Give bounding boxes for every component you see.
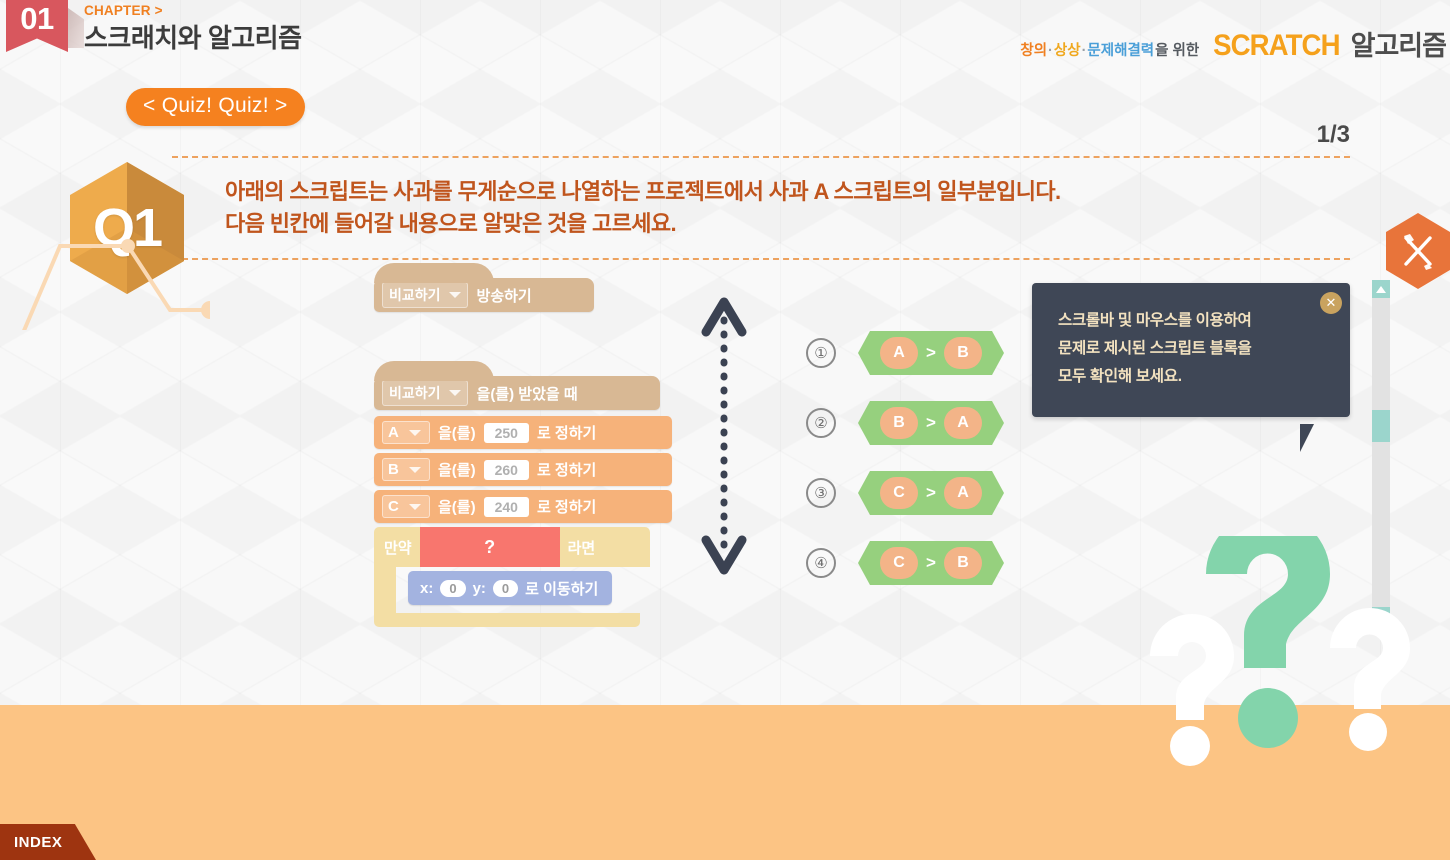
variable-dropdown[interactable]: C bbox=[382, 495, 430, 518]
caret-up-icon bbox=[1376, 286, 1386, 293]
scratch-script: 비교하기 방송하기 비교하기 을(를) 받았을 때 A 을(를) 250 로 정… bbox=[374, 278, 672, 631]
question-text: 아래의 스크립트는 사과를 무게순으로 나열하는 프로젝트에서 사과 A 스크립… bbox=[225, 176, 1061, 240]
close-icon[interactable]: ✕ bbox=[1320, 292, 1342, 314]
page-indicator: 1/3 bbox=[1317, 121, 1350, 149]
receive-block-label: 을(를) 받았을 때 bbox=[477, 383, 578, 404]
move-block-suffix: 로 이동하기 bbox=[525, 578, 598, 599]
variable-value-input[interactable]: 240 bbox=[484, 497, 529, 517]
scroll-up-button[interactable] bbox=[1372, 280, 1390, 298]
chevron-down-icon bbox=[409, 504, 421, 510]
operator: > bbox=[926, 483, 936, 503]
if-block-arm bbox=[374, 567, 396, 613]
set-block-prefix: 을(를) bbox=[438, 459, 476, 480]
caret-down-icon bbox=[1376, 613, 1386, 620]
set-variable-block[interactable]: A 을(를) 250 로 정하기 bbox=[374, 416, 672, 449]
brand-logo: 창의 · 상상 · 문제해결력 을 위한 SCRATCH 알고리즘 bbox=[1020, 24, 1446, 63]
quiz-page: 01 CHAPTER > 스크래치와 알고리즘 창의 · 상상 · 문제해결력 … bbox=[0, 0, 1450, 860]
variable-dropdown[interactable]: B bbox=[382, 458, 430, 481]
set-block-suffix: 로 정하기 bbox=[537, 422, 596, 443]
receive-dropdown[interactable]: 비교하기 bbox=[382, 380, 468, 406]
set-variable-block[interactable]: C 을(를) 240 로 정하기 bbox=[374, 490, 672, 523]
operand-right: A bbox=[944, 407, 982, 439]
set-block-suffix: 로 정하기 bbox=[537, 459, 596, 480]
chevron-down-icon bbox=[449, 292, 461, 298]
option-row[interactable]: ② B > A bbox=[806, 388, 1004, 458]
vertical-scrollbar[interactable] bbox=[1372, 280, 1390, 625]
set-block-prefix: 을(를) bbox=[438, 496, 476, 517]
receive-dropdown-value: 비교하기 bbox=[389, 383, 441, 403]
brand-part-1: 창의 bbox=[1020, 39, 1047, 60]
move-y-label: y: bbox=[473, 580, 486, 597]
brand-algorithm: 알고리즘 bbox=[1346, 24, 1446, 63]
operator: > bbox=[926, 343, 936, 363]
operator: > bbox=[926, 413, 936, 433]
quiz-navigation-pill[interactable]: < Quiz! Quiz! > bbox=[126, 88, 305, 126]
set-variable-block[interactable]: B 을(를) 260 로 정하기 bbox=[374, 453, 672, 486]
option-number: ④ bbox=[806, 548, 836, 578]
operand-right: B bbox=[944, 337, 982, 369]
variable-name: C bbox=[388, 498, 399, 515]
chevron-down-icon bbox=[449, 390, 461, 396]
if-block-wrapper: 만약 ? 라면 x: 0 y: 0 로 이동하기 bbox=[374, 527, 672, 631]
if-block[interactable]: 만약 ? 라면 bbox=[374, 527, 650, 567]
option-row[interactable]: ① A > B bbox=[806, 318, 1004, 388]
answer-options: ① A > B ② B > A ③ C > A ④ bbox=[806, 318, 1004, 598]
operand-right: A bbox=[944, 477, 982, 509]
tooltip-line-1: 스크롤바 및 마우스를 이용하여 bbox=[1058, 307, 1324, 335]
brand-scratch: SCRATCH bbox=[1205, 29, 1340, 63]
brand-part-4: 을 위한 bbox=[1154, 39, 1199, 60]
option-number: ① bbox=[806, 338, 836, 368]
option-boolean-block[interactable]: A > B bbox=[858, 331, 1004, 375]
broadcast-block[interactable]: 비교하기 방송하기 bbox=[374, 278, 594, 312]
operand-left: A bbox=[880, 337, 918, 369]
tooltip-line-2: 문제로 제시된 스크립트 블록을 bbox=[1058, 335, 1324, 363]
option-number: ② bbox=[806, 408, 836, 438]
divider-top bbox=[172, 156, 1350, 158]
variable-value-input[interactable]: 260 bbox=[484, 460, 529, 480]
variable-value-input[interactable]: 250 bbox=[484, 423, 529, 443]
question-line-2: 다음 빈칸에 들어갈 내용으로 알맞은 것을 고르세요. bbox=[225, 208, 1061, 240]
broadcast-block-label: 방송하기 bbox=[477, 285, 532, 306]
option-boolean-block[interactable]: C > A bbox=[858, 471, 1004, 515]
if-condition-slot[interactable]: ? bbox=[420, 527, 560, 567]
move-y-input[interactable]: 0 bbox=[493, 580, 518, 597]
page-title: 스크래치와 알고리즘 bbox=[84, 18, 302, 55]
tooltip-tail bbox=[1300, 424, 1314, 452]
scroll-down-button[interactable] bbox=[1372, 607, 1390, 625]
if-block-prefix: 만약 bbox=[384, 537, 412, 558]
brand-part-3: 문제해결력 bbox=[1087, 39, 1154, 60]
pencil-ruler-icon[interactable] bbox=[1384, 212, 1450, 290]
footer-band bbox=[0, 705, 1450, 860]
set-block-suffix: 로 정하기 bbox=[537, 496, 596, 517]
operand-left: C bbox=[880, 477, 918, 509]
operand-left: B bbox=[880, 407, 918, 439]
question-line-1: 아래의 스크립트는 사과를 무게순으로 나열하는 프로젝트에서 사과 A 스크립… bbox=[225, 176, 1061, 208]
ribbon-shadow bbox=[68, 8, 84, 48]
move-x-input[interactable]: 0 bbox=[440, 580, 465, 597]
brand-sep-2: · bbox=[1081, 43, 1088, 59]
brand-part-2: 상상 bbox=[1054, 39, 1081, 60]
brand-sep-1: · bbox=[1047, 43, 1054, 59]
option-row[interactable]: ④ C > B bbox=[806, 528, 1004, 598]
receive-block[interactable]: 비교하기 을(를) 받았을 때 bbox=[374, 376, 660, 410]
operator: > bbox=[926, 553, 936, 573]
operand-right: B bbox=[944, 547, 982, 579]
variable-name: B bbox=[388, 461, 399, 478]
chapter-label: CHAPTER > bbox=[84, 3, 163, 18]
move-to-block[interactable]: x: 0 y: 0 로 이동하기 bbox=[408, 571, 612, 605]
question-badge: Q1 bbox=[68, 160, 186, 296]
move-x-label: x: bbox=[420, 580, 433, 597]
broadcast-dropdown-value: 비교하기 bbox=[389, 285, 441, 305]
if-block-foot bbox=[374, 613, 640, 627]
set-block-prefix: 을(를) bbox=[438, 422, 476, 443]
chapter-number: 01 bbox=[20, 0, 53, 34]
hat-block-cap bbox=[374, 361, 494, 381]
divider-bottom bbox=[172, 258, 1350, 260]
chevron-down-icon bbox=[409, 430, 421, 436]
broadcast-dropdown[interactable]: 비교하기 bbox=[382, 282, 468, 308]
variable-name: A bbox=[388, 424, 399, 441]
scrollbar-thumb[interactable] bbox=[1372, 410, 1390, 442]
chapter-number-ribbon: 01 bbox=[6, 0, 68, 52]
question-badge-label: Q1 bbox=[68, 160, 186, 296]
scroll-hint-arrows bbox=[700, 288, 748, 584]
chevron-down-icon bbox=[409, 467, 421, 473]
index-label: INDEX bbox=[14, 834, 62, 851]
hat-block-cap bbox=[374, 263, 494, 283]
hint-tooltip: ✕ 스크롤바 및 마우스를 이용하여 문제로 제시된 스크립트 블록을 모두 확… bbox=[1032, 283, 1350, 417]
operand-left: C bbox=[880, 547, 918, 579]
option-number: ③ bbox=[806, 478, 836, 508]
option-boolean-block[interactable]: C > B bbox=[858, 541, 1004, 585]
option-boolean-block[interactable]: B > A bbox=[858, 401, 1004, 445]
option-row[interactable]: ③ C > A bbox=[806, 458, 1004, 528]
tooltip-line-3: 모두 확인해 보세요. bbox=[1058, 363, 1324, 391]
variable-dropdown[interactable]: A bbox=[382, 421, 430, 444]
if-block-suffix: 라면 bbox=[568, 537, 596, 558]
